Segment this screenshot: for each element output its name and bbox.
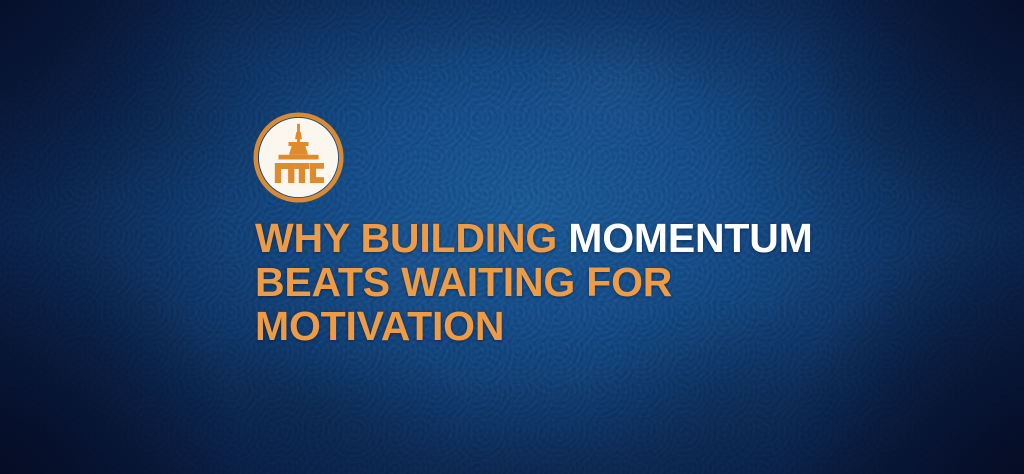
banner-content: WHY BUILDING MOMENTUM BEATS WAITING FOR … <box>253 0 993 474</box>
banner-headline: WHY BUILDING MOMENTUM BEATS WAITING FOR … <box>255 216 955 348</box>
headline-line-3: MOTIVATION <box>255 303 504 349</box>
headline-line-2: BEATS WAITING FOR <box>255 259 672 305</box>
headline-line-1-prefix: WHY BUILDING <box>255 215 568 261</box>
ntc-tower-roundel-logo-icon <box>253 112 344 203</box>
headline-highlight-word: MOMENTUM <box>568 215 812 261</box>
blog-header-banner: WHY BUILDING MOMENTUM BEATS WAITING FOR … <box>0 0 1024 474</box>
